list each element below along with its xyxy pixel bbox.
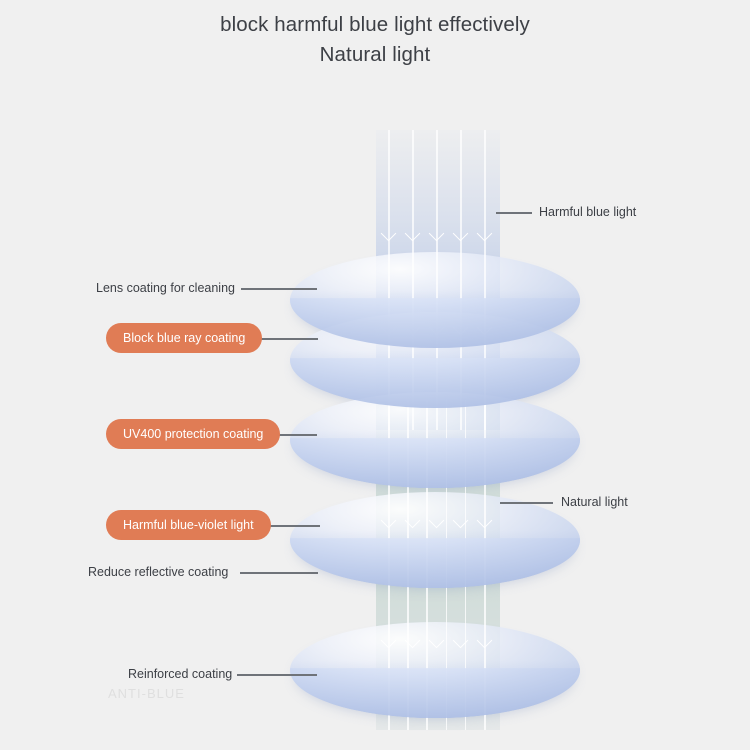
leader-line-harmful-blue-light (496, 212, 532, 214)
label-reinforced-coating: Reinforced coating (128, 666, 232, 682)
title-line-1: block harmful blue light effectively (0, 10, 750, 40)
leader-line-reinforced-coating (237, 674, 317, 676)
watermark: ANTI-BLUE (108, 686, 185, 701)
page-title: block harmful blue light effectively Nat… (0, 10, 750, 70)
title-line-2: Natural light (0, 40, 750, 70)
label-reduce-reflective-coating: Reduce reflective coating (88, 564, 228, 580)
leader-line-lens-coating-for-cleaning (241, 288, 317, 290)
leader-line-natural-light (500, 502, 553, 504)
label-harmful-blue-light: Harmful blue light (539, 204, 636, 220)
label-uv400-protection-coating[interactable]: UV400 protection coating (106, 419, 280, 449)
label-natural-light: Natural light (561, 494, 628, 510)
label-harmful-blue-violet-light[interactable]: Harmful blue-violet light (106, 510, 271, 540)
leader-line-reduce-reflective-coating (240, 572, 318, 574)
label-lens-coating-for-cleaning: Lens coating for cleaning (96, 280, 235, 296)
infographic-canvas: block harmful blue light effectively Nat… (0, 0, 750, 750)
leader-line-block-blue-ray-coating (256, 338, 318, 340)
label-block-blue-ray-coating[interactable]: Block blue ray coating (106, 323, 262, 353)
